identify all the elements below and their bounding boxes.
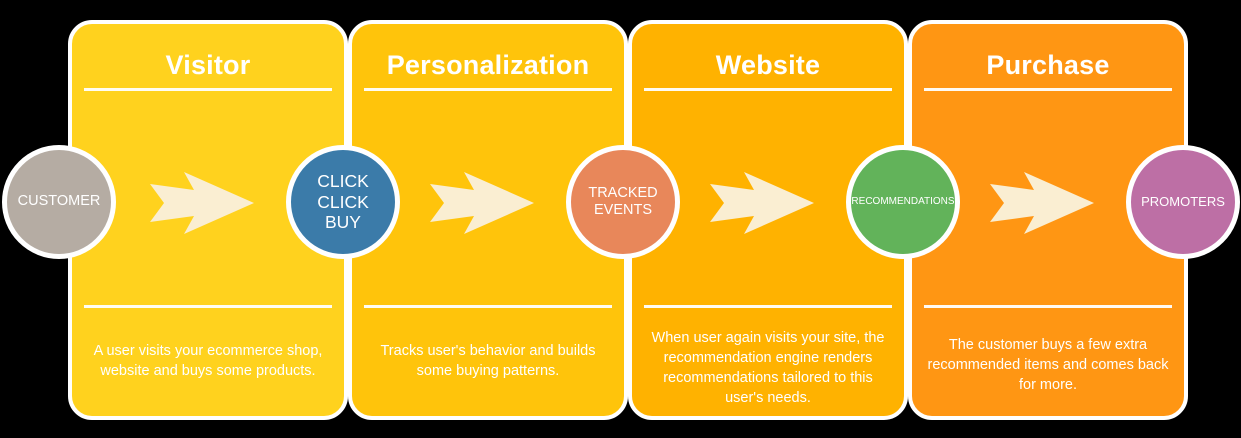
panel-title-purchase: Purchase — [912, 50, 1184, 81]
panel-title-personalization: Personalization — [352, 50, 624, 81]
node-tracked-events: TRACKED EVENTS — [566, 145, 680, 259]
panel-rule-bottom — [924, 305, 1172, 308]
node-customer: CUSTOMER — [2, 145, 116, 259]
arrow-right-icon — [990, 170, 1094, 236]
panel-rule-bottom — [364, 305, 612, 308]
panel-description-visitor: A user visits your ecommerce shop, websi… — [86, 341, 330, 381]
node-click-click-buy: CLICK CLICK BUY — [286, 145, 400, 259]
panel-rule-bottom — [84, 305, 332, 308]
node-label-tracked-events: TRACKED EVENTS — [588, 185, 657, 219]
panel-rule-top — [644, 88, 892, 91]
panel-description-personalization: Tracks user's behavior and builds some b… — [366, 341, 610, 381]
node-promoters: PROMOTERS — [1126, 145, 1240, 259]
node-label-click-click-buy: CLICK CLICK BUY — [317, 171, 369, 233]
panel-description-purchase: The customer buys a few extra recommende… — [926, 335, 1170, 395]
panel-rule-top — [84, 88, 332, 91]
panel-description-website: When user again visits your site, the re… — [646, 328, 890, 408]
panel-title-visitor: Visitor — [72, 50, 344, 81]
panel-rule-top — [364, 88, 612, 91]
arrow-right-icon — [430, 170, 534, 236]
node-recommendations: RECOMMENDATIONS — [846, 145, 960, 259]
node-label-customer: CUSTOMER — [18, 193, 101, 210]
panel-rule-top — [924, 88, 1172, 91]
arrow-right-icon — [710, 170, 814, 236]
node-label-promoters: PROMOTERS — [1141, 194, 1225, 209]
panel-title-website: Website — [632, 50, 904, 81]
diagram-canvas: Visitor A user visits your ecommerce sho… — [0, 0, 1241, 438]
panel-rule-bottom — [644, 305, 892, 308]
arrow-right-icon — [150, 170, 254, 236]
node-label-recommendations: RECOMMENDATIONS — [851, 196, 954, 208]
